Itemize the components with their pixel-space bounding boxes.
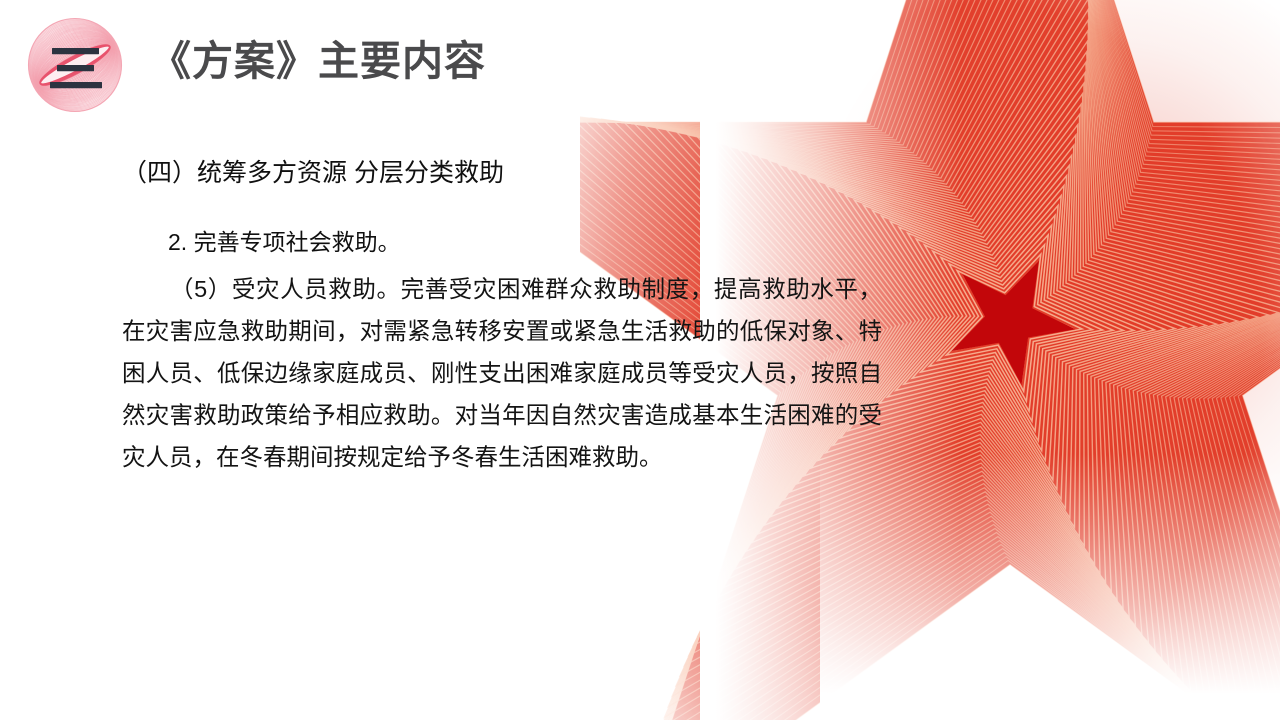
page-title: 《方案》主要内容 (150, 36, 486, 87)
body-paragraph: （5）受灾人员救助。完善受灾困难群众救助制度，提高救助水平，在灾害应急救助期间，… (122, 268, 882, 478)
section-heading: （四）统筹多方资源 分层分类救助 (122, 155, 890, 191)
section-number-badge (22, 12, 128, 118)
slide-header: 《方案》主要内容 (0, 0, 640, 130)
sub-heading: 2. 完善专项社会救助。 (122, 225, 890, 260)
slide-body: （四）统筹多方资源 分层分类救助 2. 完善专项社会救助。 （5）受灾人员救助。… (122, 155, 890, 478)
slide-canvas: 《方案》主要内容 （四）统筹多方资源 分层分类救助 2. 完善专项社会救助。 （… (0, 0, 1280, 720)
